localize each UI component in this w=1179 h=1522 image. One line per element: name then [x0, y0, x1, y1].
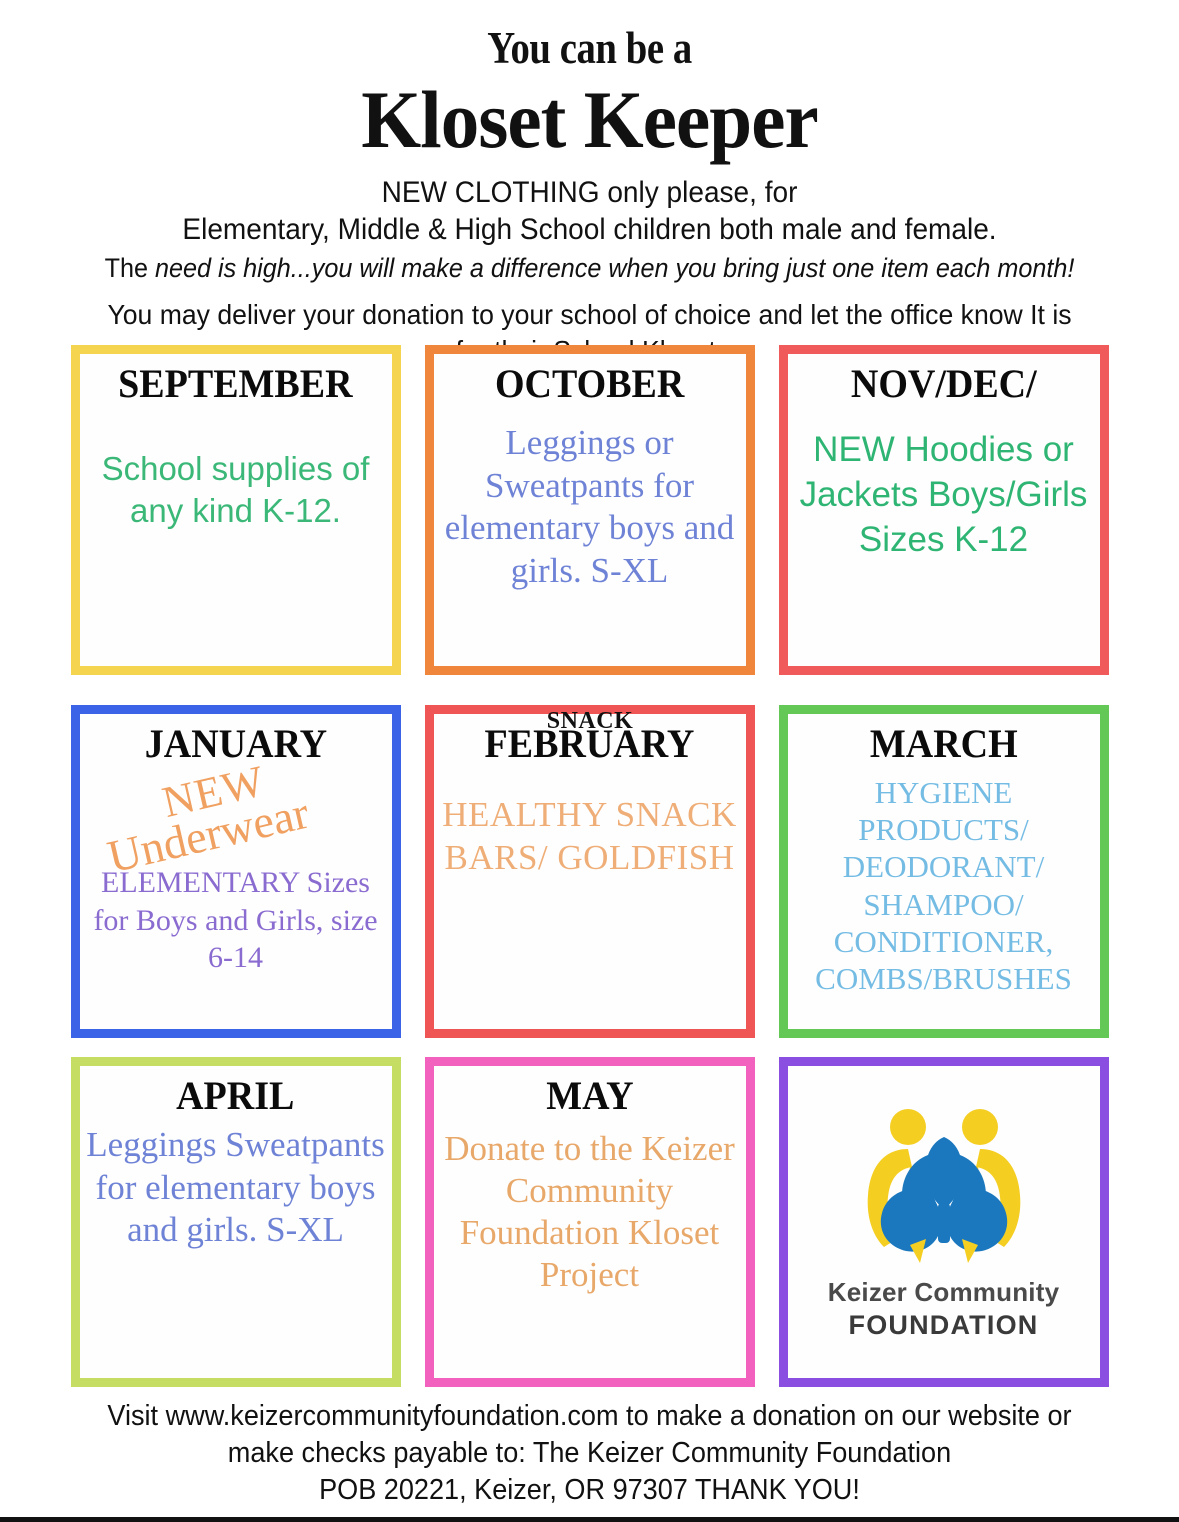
month-text-may: Donate to the Keizer Community Foundatio…	[440, 1128, 740, 1296]
keizer-community-foundation-logo-icon	[844, 1103, 1044, 1271]
month-text-february: HEALTHY SNACK BARS/ GOLDFISH	[440, 794, 740, 879]
month-text-april: Leggings Sweatpants for elementary boys …	[86, 1124, 386, 1252]
month-row-3: APRIL Leggings Sweatpants for elementary…	[0, 1057, 1179, 1387]
intro-line-1: NEW CLOTHING only please, for	[29, 175, 1149, 212]
month-card-november-december: NOV/DEC/ NEW Hoodies or Jackets Boys/Gir…	[779, 345, 1109, 675]
month-label-march: MARCH	[870, 722, 1018, 766]
month-label-may: MAY	[546, 1074, 633, 1118]
month-text-march: HYGIENE PRODUCTS/ DEODORANT/ SHAMPOO/ CO…	[794, 774, 1094, 997]
month-text-september: School supplies of any kind K-12.	[86, 448, 386, 532]
month-text-november-december: NEW Hoodies or Jackets Boys/Girls Sizes …	[794, 428, 1094, 562]
footer-line-3: POB 20221, Keizer, OR 97307 THANK YOU!	[29, 1472, 1149, 1509]
month-label-april: APRIL	[176, 1074, 294, 1118]
logo-org-line-1: Keizer Community	[828, 1277, 1059, 1308]
month-text-january: ELEMENTARY Sizes for Boys and Girls, siz…	[86, 864, 386, 977]
footer-line-2: make checks payable to: The Keizer Commu…	[29, 1435, 1149, 1472]
flyer-header: You can be a Kloset Keeper NEW CLOTHING …	[0, 0, 1179, 369]
month-card-april: APRIL Leggings Sweatpants for elementary…	[71, 1057, 401, 1387]
month-label-october: OCTOBER	[495, 362, 684, 406]
month-card-january: JANUARY NEW Underwear ELEMENTARY Sizes f…	[71, 705, 401, 1038]
intro-line-3: The need is high...you will make a diffe…	[29, 252, 1149, 285]
logo-org-line-2: FOUNDATION	[849, 1310, 1039, 1341]
intro-line-2: Elementary, Middle & High School childre…	[29, 212, 1149, 249]
footer-line-1: Visit www.keizercommunityfoundation.com …	[29, 1398, 1149, 1435]
intro-line-3-prefix: The	[105, 253, 155, 283]
flyer-page: You can be a Kloset Keeper NEW CLOTHING …	[0, 0, 1179, 1522]
page-title: Kloset Keeper	[35, 77, 1143, 163]
intro-line-3-emphasis: need is high...you will make a differenc…	[155, 253, 1074, 283]
month-card-march: MARCH HYGIENE PRODUCTS/ DEODORANT/ SHAMP…	[779, 705, 1109, 1038]
month-card-may: MAY Donate to the Keizer Community Found…	[425, 1057, 755, 1387]
january-highlight-block: NEW Underwear	[86, 764, 386, 860]
month-row-1: SEPTEMBER School supplies of any kind K-…	[0, 345, 1179, 675]
month-label-february: FEBRUARY	[485, 722, 695, 766]
month-label-november-december: NOV/DEC/	[851, 362, 1037, 406]
eyebrow-text: You can be a	[83, 26, 1097, 71]
month-card-september: SEPTEMBER School supplies of any kind K-…	[71, 345, 401, 675]
month-card-october: OCTOBER Leggings or Sweatpants for eleme…	[425, 345, 755, 675]
month-text-october: Leggings or Sweatpants for elementary bo…	[440, 422, 740, 593]
month-grid: SEPTEMBER School supplies of any kind K-…	[0, 345, 1179, 1387]
month-label-september: SEPTEMBER	[118, 362, 352, 406]
logo-card: Keizer Community FOUNDATION	[779, 1057, 1109, 1387]
month-row-2: JANUARY NEW Underwear ELEMENTARY Sizes f…	[0, 705, 1179, 1038]
month-card-february: FEBRUARY HEALTHY SNACK BARS/ GOLDFISH	[425, 705, 755, 1038]
flyer-footer: Visit www.keizercommunityfoundation.com …	[29, 1398, 1149, 1509]
intro-paragraph: NEW CLOTHING only please, for Elementary…	[29, 175, 1149, 369]
